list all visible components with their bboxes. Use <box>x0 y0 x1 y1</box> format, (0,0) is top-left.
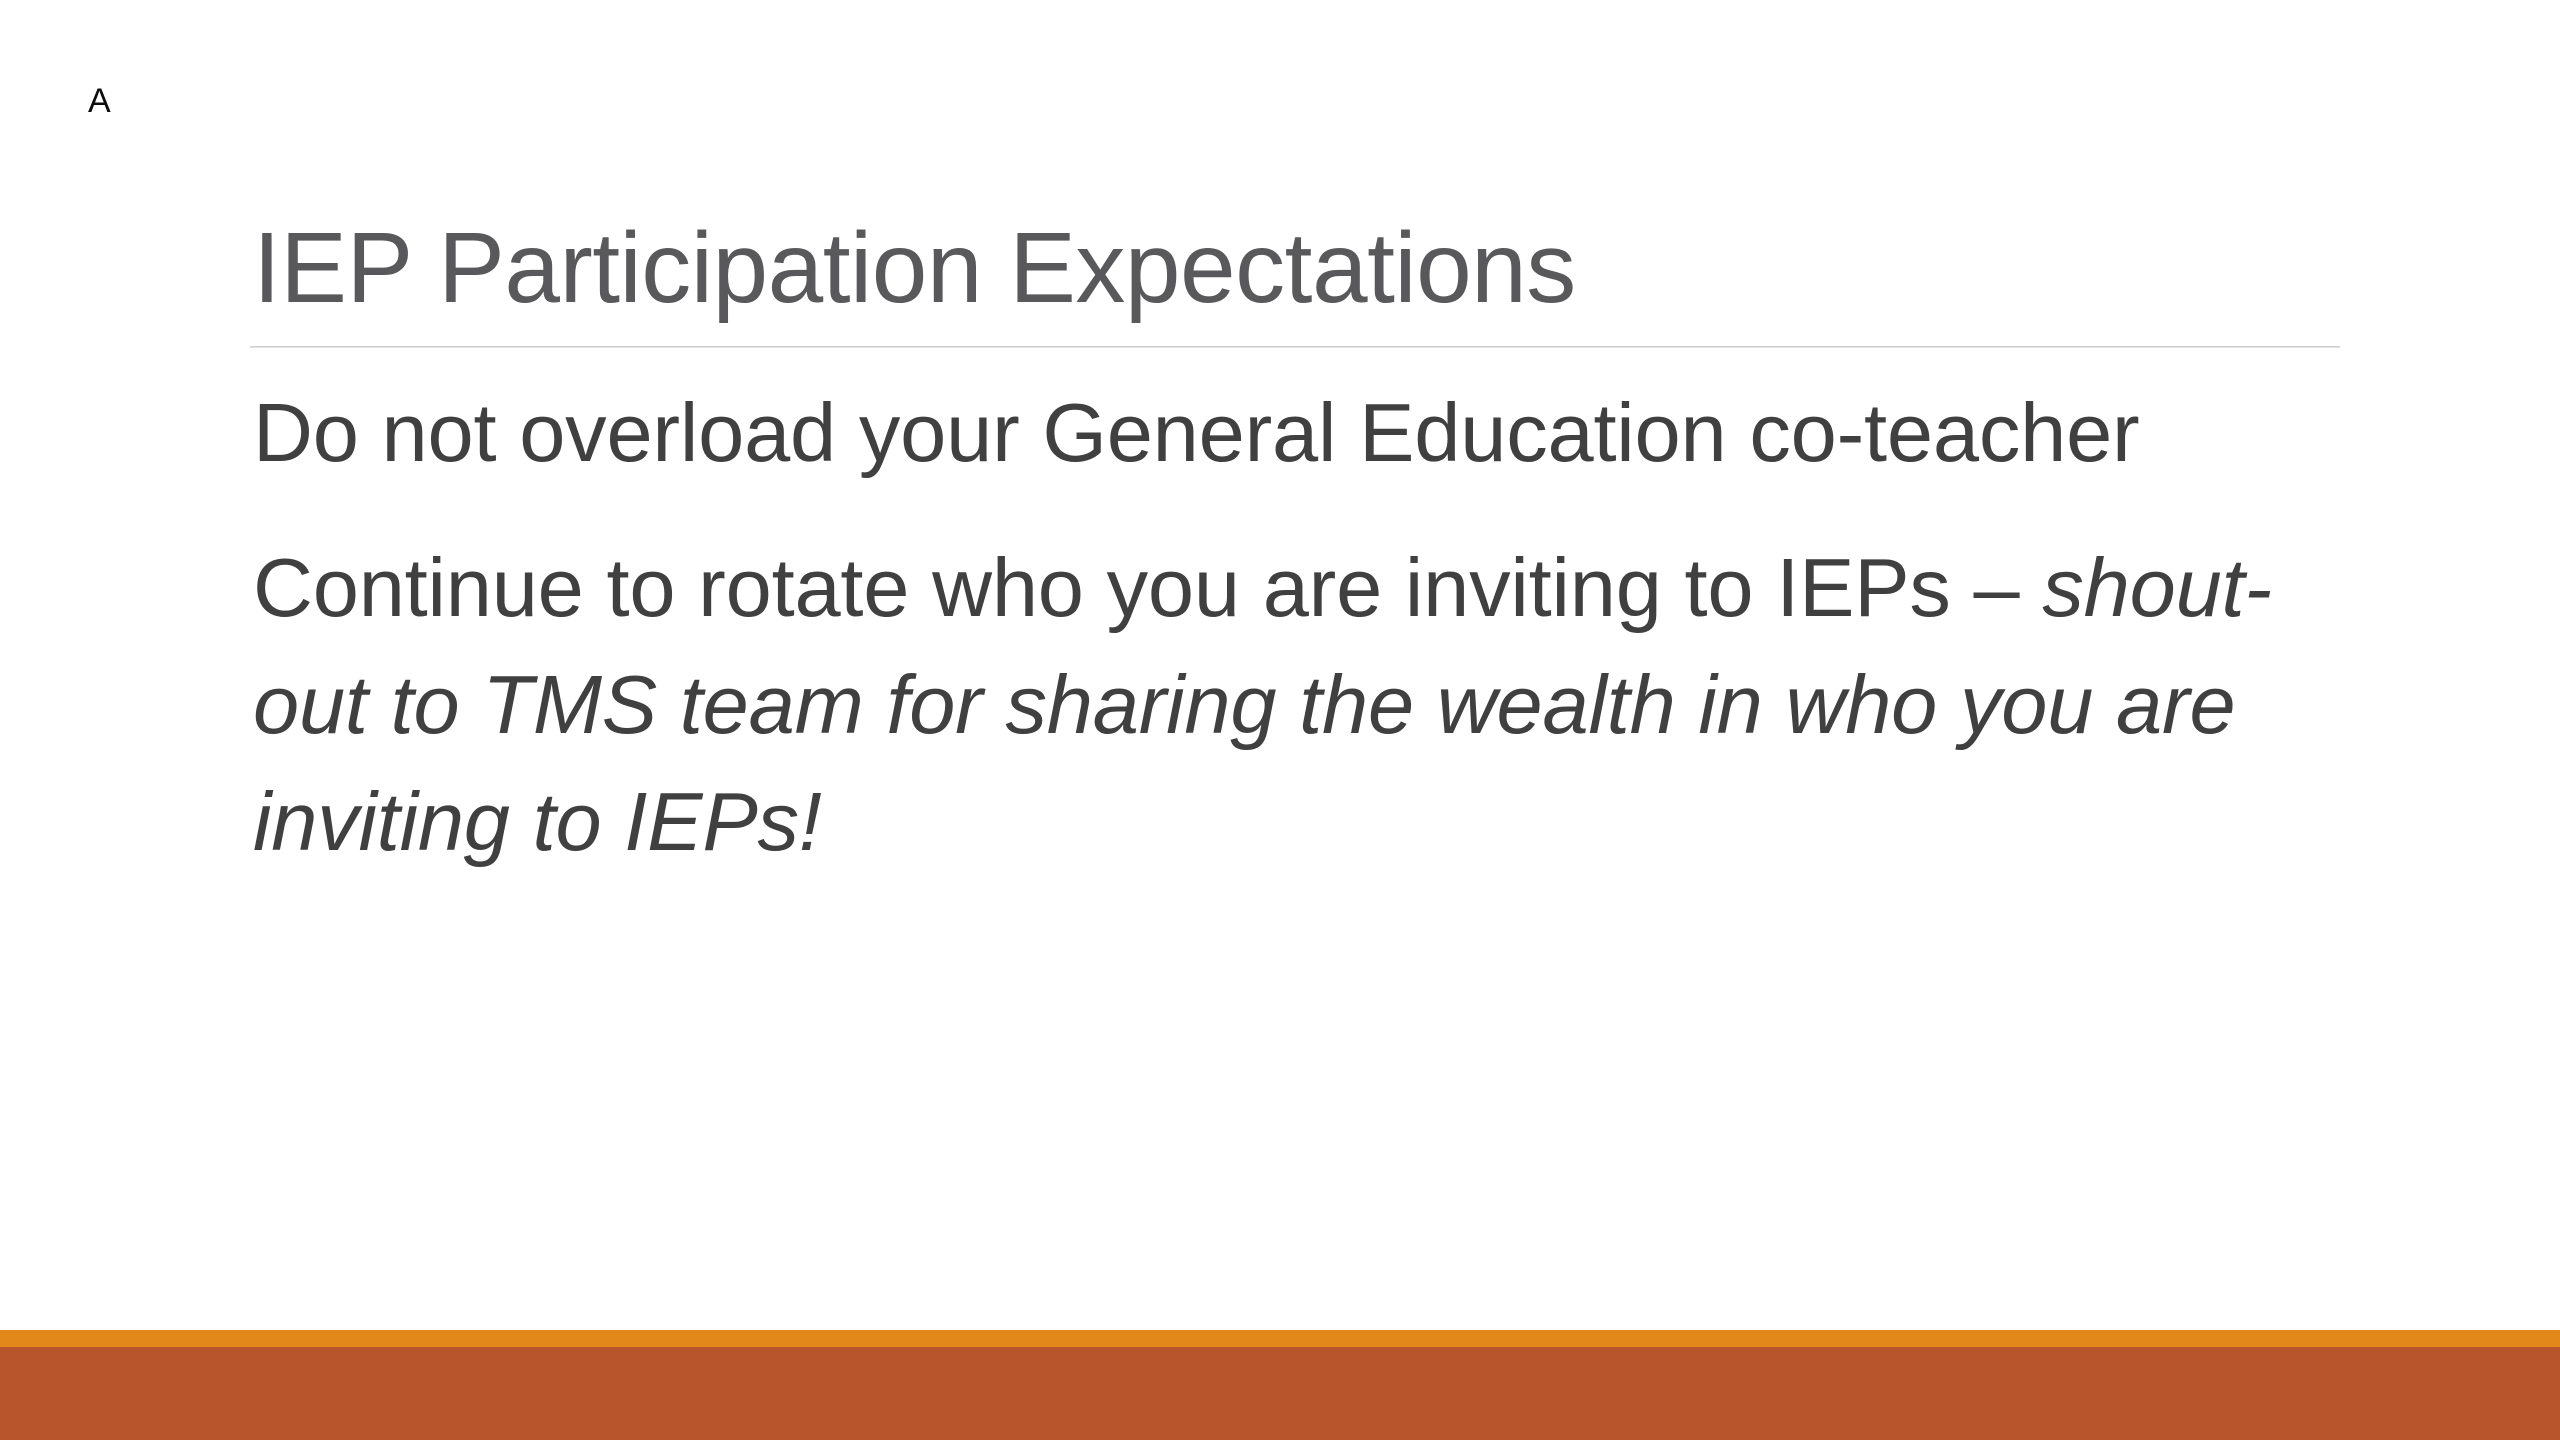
title-divider-rule <box>250 346 2340 348</box>
footer-accent-bar-terracotta <box>0 1347 2560 1440</box>
body-paragraph-2: Continue to rotate who you are inviting … <box>253 529 2345 880</box>
presentation-slide: A IEP Participation Expectations Do not … <box>0 0 2560 1440</box>
slide-corner-mark: A <box>88 84 111 118</box>
footer-accent-bar-orange <box>0 1330 2560 1347</box>
slide-content-area: IEP Participation Expectations Do not ov… <box>253 210 2345 880</box>
slide-body-text: Do not overload your General Education c… <box>253 374 2345 880</box>
body-paragraph-1: Do not overload your General Education c… <box>253 374 2345 491</box>
body-paragraph-2-run-regular: Continue to rotate who you are inviting … <box>253 541 2042 634</box>
page-title: IEP Participation Expectations <box>253 210 2345 334</box>
body-paragraph-1-run-regular: Do not overload your General Education c… <box>253 386 2139 479</box>
